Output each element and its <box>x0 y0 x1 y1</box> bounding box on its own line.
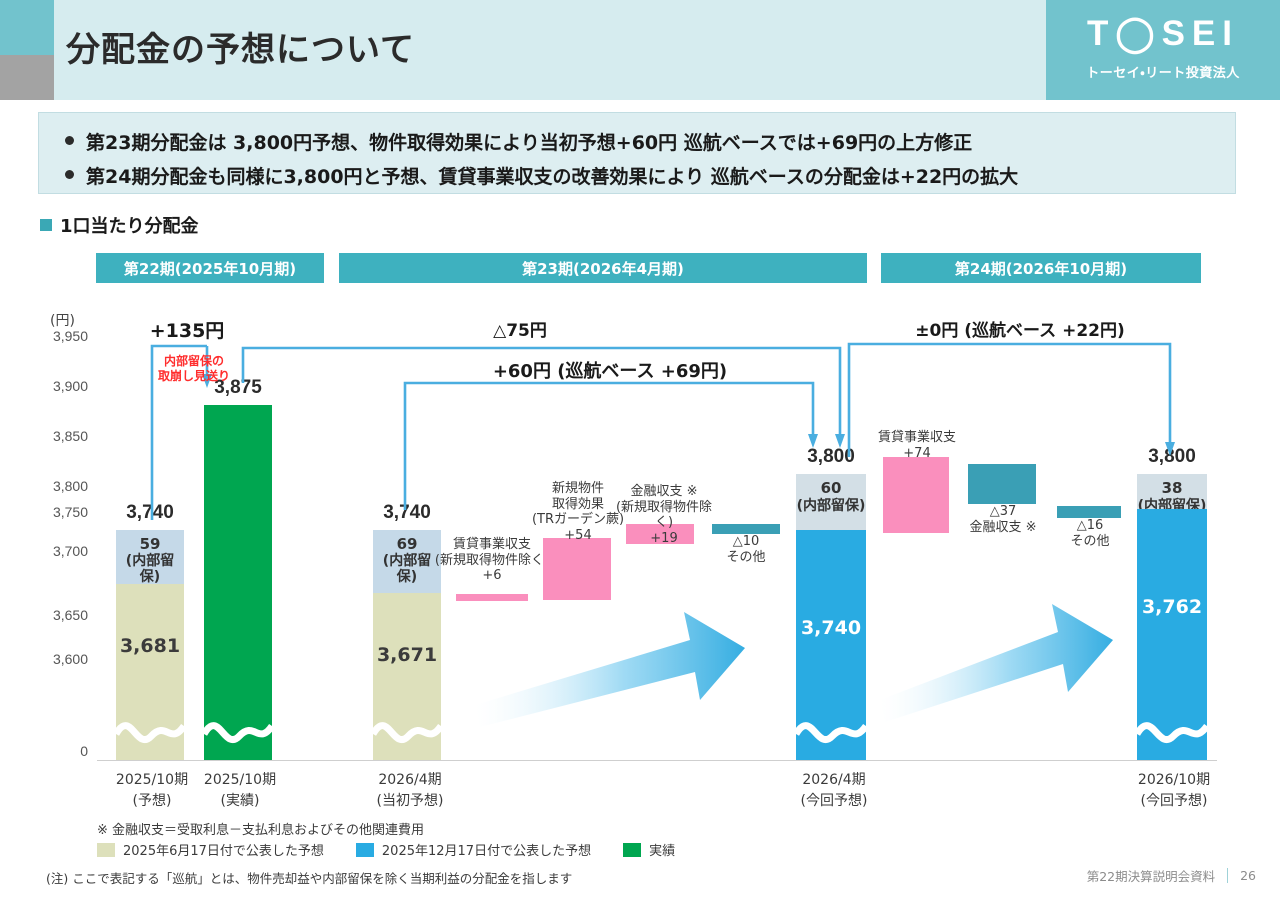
axis-break-squiggle-4 <box>1137 712 1207 750</box>
y-axis-tick-0: 3,950 <box>26 328 88 344</box>
footer-page-number: 26 <box>1240 868 1256 883</box>
legend-item-0: 2025年6月17日付で公表した予想 <box>97 840 324 859</box>
legend-label-0: 2025年6月17日付で公表した予想 <box>123 840 324 859</box>
bracket-label-plus60: +60円 (巡航ベース +69円) <box>380 357 840 383</box>
square-marker-icon <box>40 219 52 231</box>
legend-label-1: 2025年12月17日付で公表した予想 <box>382 840 591 859</box>
x-axis-line <box>97 760 1217 761</box>
section-heading-label: 1口当たり分配金 <box>60 212 199 238</box>
highlight-item-0: 第23期分配金は 3,800円予想、物件取得効果により当初予想+60円 巡航ベー… <box>65 128 972 155</box>
x-axis-label-1: 2025/10期(実績) <box>188 770 292 812</box>
reserve-annotation: 内部留保の取崩し見送り <box>146 354 242 384</box>
bar-value-label-3: 3,740 <box>796 618 866 640</box>
transition-arrow-p23 <box>475 612 745 727</box>
bridge-bar-p24-1 <box>968 464 1036 504</box>
bullet-dot-icon <box>65 170 74 179</box>
reserve-amount-4: 38(内部留保) <box>1137 480 1207 509</box>
period-header-23: 第23期(2026年4月期) <box>339 253 867 283</box>
bracket-label-plus135: +135円 <box>132 316 242 343</box>
bar-value-label-4: 3,762 <box>1137 597 1207 619</box>
legend-item-2: 実績 <box>623 840 675 859</box>
page-title: 分配金の予想について <box>66 22 415 71</box>
y-axis-tick-7: 3,600 <box>26 651 88 667</box>
y-axis-tick-3: 3,800 <box>26 478 88 494</box>
legend-item-1: 2025年12月17日付で公表した予想 <box>356 840 591 859</box>
bar-total-label-0: 3,740 <box>94 502 206 524</box>
tosei-logo-icon: T◯SEI <box>1046 0 1280 68</box>
x-axis-label-4: 2026/10期(今回予想) <box>1122 770 1226 812</box>
transition-arrow-p24 <box>880 604 1113 722</box>
bar-segment-reserve-3: 60(内部留保) <box>796 474 866 529</box>
header-accent-gray <box>0 55 54 100</box>
period-header-22: 第22期(2025年10月期) <box>96 253 324 283</box>
y-axis-unit-label: (円) <box>50 310 75 330</box>
axis-break-squiggle-0 <box>116 712 184 750</box>
bridge-bar-p23-3 <box>712 524 780 534</box>
bridge-bar-p23-0 <box>456 594 528 601</box>
axis-break-squiggle-1 <box>204 712 272 750</box>
slide-header: 分配金の予想について T◯SEI トーセイ・リート投資法人 <box>0 0 1280 100</box>
y-axis-tick-4: 3,750 <box>26 504 88 520</box>
header-accent-teal <box>0 0 54 55</box>
slide-root: 分配金の予想について T◯SEI トーセイ・リート投資法人 第23期分配金は 3… <box>0 0 1280 904</box>
bridge-label-p24-2: △16その他 <box>1045 518 1135 549</box>
legend-label-2: 実績 <box>649 840 675 859</box>
bridge-label-p23-0: 賃貸事業収支(新規取得物件除く)+6 <box>428 537 556 584</box>
bar-total-label-2: 3,740 <box>351 502 463 524</box>
bar-value-label-0: 3,681 <box>116 636 184 658</box>
legend-swatch-icon-1 <box>356 843 374 857</box>
period-header-24: 第24期(2026年10月期) <box>881 253 1201 283</box>
y-axis-tick-2: 3,850 <box>26 428 88 444</box>
bridge-bar-p23-1 <box>543 538 611 600</box>
highlight-text-0: 第23期分配金は 3,800円予想、物件取得効果により当初予想+60円 巡航ベー… <box>86 128 972 155</box>
bar-value-label-2: 3,671 <box>373 645 441 667</box>
highlights-box: 第23期分配金は 3,800円予想、物件取得効果により当初予想+60円 巡航ベー… <box>38 112 1236 194</box>
bar-segment-reserve-0: 59(内部留保) <box>116 530 184 584</box>
y-axis-tick-5: 3,700 <box>26 543 88 559</box>
y-axis-tick-6: 3,650 <box>26 607 88 623</box>
footer-doc-title: 第22期決算説明会資料 <box>1087 866 1215 885</box>
bar-total-label-4: 3,800 <box>1115 446 1229 468</box>
axis-break-squiggle-3 <box>796 712 866 750</box>
bottom-note: (注) ここで表記する「巡航」とは、物件売却益や内部留保を除く当期利益の分配金を… <box>46 868 572 887</box>
bracket-label-minus75: △75円 <box>440 316 600 341</box>
bridge-bar-p24-0 <box>883 457 949 533</box>
reserve-amount-3: 60(内部留保) <box>796 480 866 513</box>
x-axis-label-2: 2026/4期(当初予想) <box>358 770 462 812</box>
legend-swatch-icon-0 <box>97 843 115 857</box>
bridge-label-p23-3: △10その他 <box>700 534 792 565</box>
highlight-item-1: 第24期分配金も同様に3,800円と予想、賃貸事業収支の改善効果により 巡航ベー… <box>65 162 1018 189</box>
bridge-label-p24-1: △37金融収支 ※ <box>955 504 1051 535</box>
chart-legend: 2025年6月17日付で公表した予想2025年12月17日付で公表した予想実績 <box>97 840 697 859</box>
x-axis-label-3: 2026/4期(今回予想) <box>782 770 886 812</box>
y-axis-tick-8: 0 <box>26 743 88 759</box>
section-heading: 1口当たり分配金 <box>40 212 199 238</box>
reserve-amount-0: 59(内部留保) <box>116 536 184 584</box>
bridge-label-p24-0: 賃貸事業収支+74 <box>870 430 964 461</box>
footer-divider <box>1227 868 1228 883</box>
logo-subtitle: トーセイ・リート投資法人 <box>1046 62 1280 81</box>
slide-footer: 第22期決算説明会資料 26 <box>1087 866 1256 885</box>
y-axis-tick-1: 3,900 <box>26 378 88 394</box>
legend-swatch-icon-2 <box>623 843 641 857</box>
highlight-text-1: 第24期分配金も同様に3,800円と予想、賃貸事業収支の改善効果により 巡航ベー… <box>86 162 1018 189</box>
finance-definition-note: ※ 金融収支＝受取利息－支払利息およびその他関連費用 <box>97 819 424 838</box>
bridge-bar-p24-2 <box>1057 506 1121 518</box>
bar-segment-actual-1 <box>204 405 272 760</box>
axis-break-squiggle-2 <box>373 712 441 750</box>
bar-segment-reserve-4: 38(内部留保) <box>1137 474 1207 509</box>
bracket-label-zero: ±0円 (巡航ベース +22円) <box>860 316 1180 341</box>
bullet-dot-icon <box>65 136 74 145</box>
